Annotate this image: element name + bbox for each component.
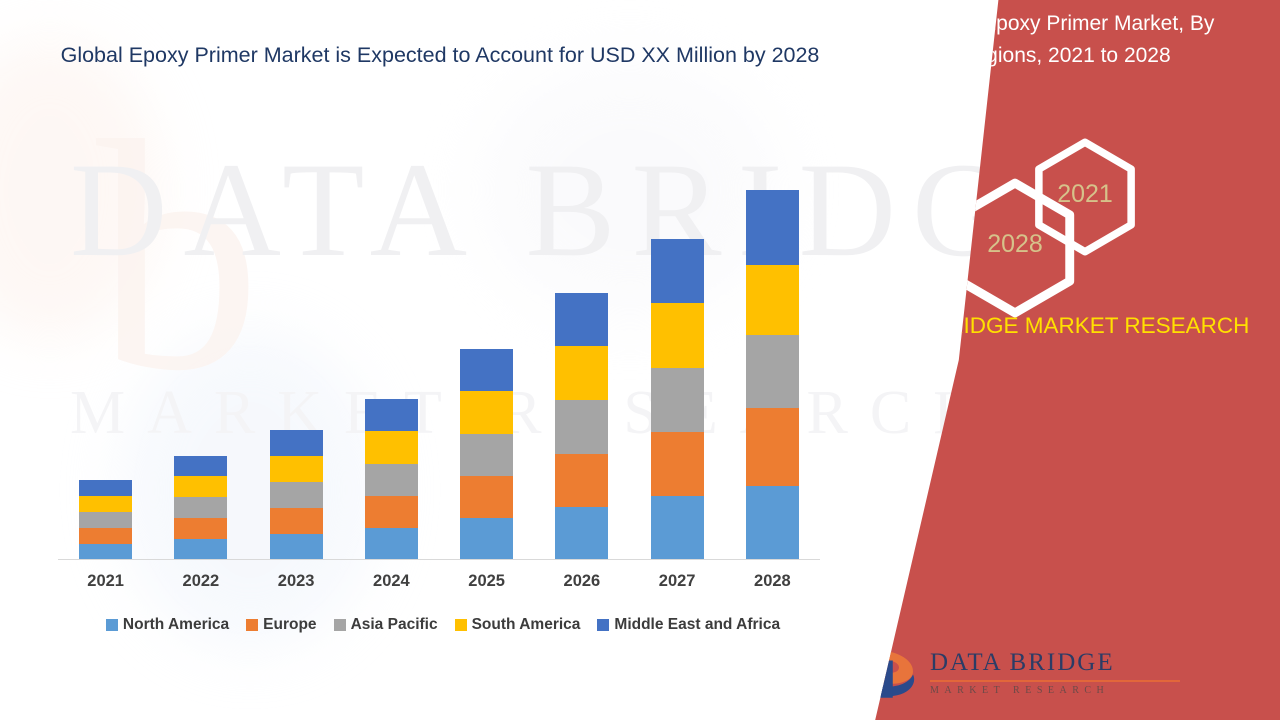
logo-subtitle: MARKET RESEARCH xyxy=(930,685,1180,696)
x-axis-tick-label: 2027 xyxy=(630,572,725,591)
bar-segment[interactable] xyxy=(460,349,513,391)
bar-stack-container xyxy=(58,163,820,560)
bar-segment[interactable] xyxy=(651,239,704,303)
company-logo: DATA BRIDGE MARKET RESEARCH xyxy=(840,630,1280,708)
bar-segment[interactable] xyxy=(746,335,799,408)
legend-label: North America xyxy=(123,616,229,634)
bar-segment[interactable] xyxy=(460,391,513,434)
legend-swatch xyxy=(106,619,118,631)
bar-group[interactable] xyxy=(725,190,820,560)
bar-segment[interactable] xyxy=(79,528,132,544)
bar-group[interactable] xyxy=(630,239,725,560)
legend-swatch xyxy=(455,619,467,631)
x-axis-tick-label: 2025 xyxy=(439,572,534,591)
logo-text: DATA BRIDGE MARKET RESEARCH xyxy=(930,650,1180,696)
logo-title: DATA BRIDGE xyxy=(930,650,1180,675)
bar-segment[interactable] xyxy=(79,496,132,512)
bar-group[interactable] xyxy=(439,349,534,560)
x-axis-tick-labels: 20212022202320242025202620272028 xyxy=(58,572,820,591)
bar-segment[interactable] xyxy=(270,534,323,560)
legend-swatch xyxy=(246,619,258,631)
legend-swatch xyxy=(597,619,609,631)
x-axis-tick-label: 2026 xyxy=(534,572,629,591)
legend-label: Asia Pacific xyxy=(351,616,438,634)
x-axis-tick-label: 2023 xyxy=(249,572,344,591)
bar-segment[interactable] xyxy=(460,518,513,560)
bar-group[interactable] xyxy=(534,293,629,560)
bar-segment[interactable] xyxy=(555,293,608,346)
legend-label: South America xyxy=(472,616,581,634)
x-axis-tick-label: 2028 xyxy=(725,572,820,591)
legend-swatch xyxy=(334,619,346,631)
bar-segment[interactable] xyxy=(174,456,227,476)
bar-segment[interactable] xyxy=(651,496,704,560)
bar-segment[interactable] xyxy=(79,544,132,560)
bar-segment[interactable] xyxy=(365,528,418,560)
legend-item[interactable]: South America xyxy=(455,616,581,634)
bar-segment[interactable] xyxy=(365,399,418,431)
bar-group[interactable] xyxy=(58,480,153,560)
bar-segment[interactable] xyxy=(270,430,323,456)
bar-segment[interactable] xyxy=(555,346,608,400)
bar-group[interactable] xyxy=(153,456,248,560)
legend-item[interactable]: Middle East and Africa xyxy=(597,616,780,634)
bar-segment[interactable] xyxy=(746,190,799,265)
x-axis-line xyxy=(58,559,820,560)
plot-area xyxy=(58,160,820,560)
bar-segment[interactable] xyxy=(174,497,227,518)
bar-segment[interactable] xyxy=(270,508,323,534)
bar-segment[interactable] xyxy=(270,456,323,482)
bar-segment[interactable] xyxy=(651,368,704,432)
bar-segment[interactable] xyxy=(270,482,323,508)
legend-item[interactable]: Europe xyxy=(246,616,316,634)
bar-segment[interactable] xyxy=(555,454,608,507)
bar-segment[interactable] xyxy=(460,434,513,476)
legend-label: Europe xyxy=(263,616,316,634)
bar-group[interactable] xyxy=(249,430,344,560)
bar-segment[interactable] xyxy=(746,486,799,560)
x-axis-tick-label: 2024 xyxy=(344,572,439,591)
bar-segment[interactable] xyxy=(460,476,513,518)
bar-segment[interactable] xyxy=(365,496,418,528)
bar-segment[interactable] xyxy=(746,265,799,335)
bar-segment[interactable] xyxy=(79,480,132,496)
bar-segment[interactable] xyxy=(174,518,227,539)
bar-segment[interactable] xyxy=(651,432,704,496)
bar-segment[interactable] xyxy=(555,507,608,560)
legend-item[interactable]: Asia Pacific xyxy=(334,616,438,634)
page-title: Global Epoxy Primer Market is Expected t… xyxy=(60,40,820,71)
bar-segment[interactable] xyxy=(174,539,227,560)
x-axis-tick-label: 2022 xyxy=(153,572,248,591)
bar-group[interactable] xyxy=(344,399,439,560)
bar-segment[interactable] xyxy=(174,476,227,497)
chart-legend: North AmericaEuropeAsia PacificSouth Ame… xyxy=(58,616,828,634)
logo-divider xyxy=(930,680,1180,682)
x-axis-tick-label: 2021 xyxy=(58,572,153,591)
bar-segment[interactable] xyxy=(365,464,418,496)
legend-label: Middle East and Africa xyxy=(614,616,780,634)
bar-segment[interactable] xyxy=(555,400,608,454)
bar-segment[interactable] xyxy=(746,408,799,486)
legend-item[interactable]: North America xyxy=(106,616,229,634)
bar-segment[interactable] xyxy=(651,303,704,368)
bar-segment[interactable] xyxy=(79,512,132,528)
bar-segment[interactable] xyxy=(365,431,418,464)
chart-panel: b DATA BRIDGE MARKET RESEARCH Global Epo… xyxy=(0,0,980,720)
